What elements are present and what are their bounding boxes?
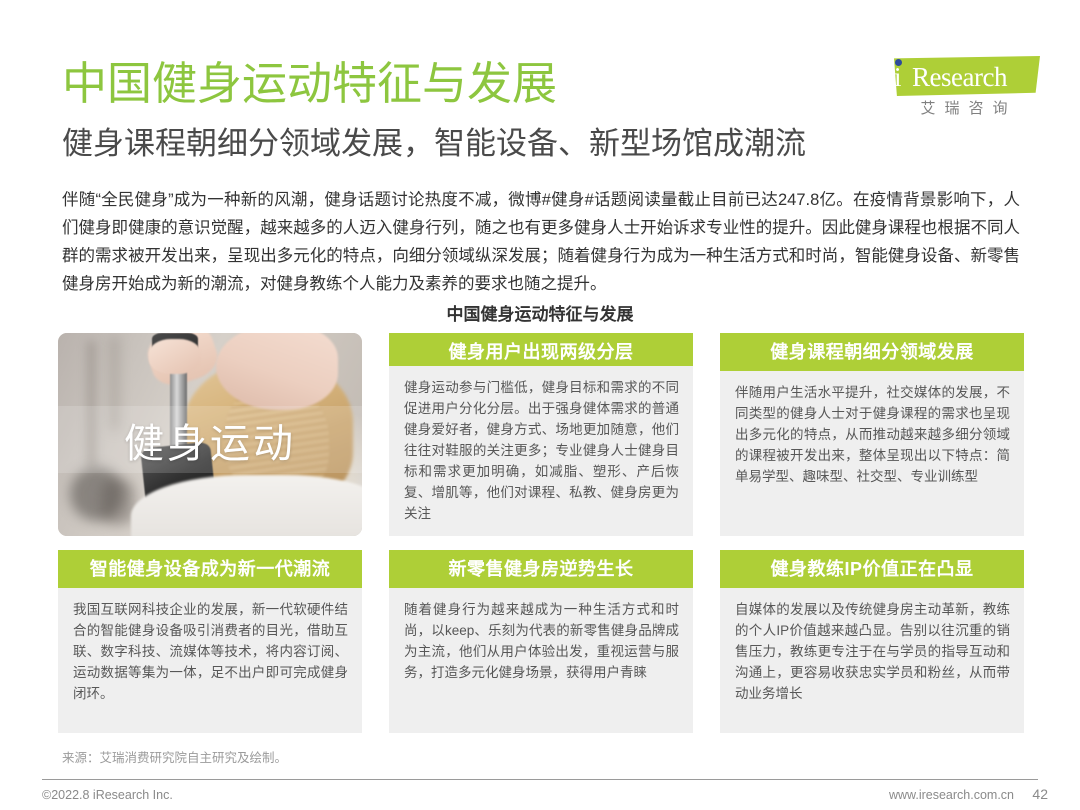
page-subtitle: 健身课程朝细分领域发展，智能设备、新型场馆成潮流 [62, 124, 806, 164]
card-title: 健身教练IP价值正在凸显 [720, 550, 1024, 588]
card-title: 智能健身设备成为新一代潮流 [58, 550, 362, 588]
logo-chinese-name: 艾瑞咨询 [897, 100, 1040, 118]
feature-card: 智能健身设备成为新一代潮流 我国互联网科技企业的发展，新一代软硬件结合的智能健身… [58, 550, 362, 733]
feature-card: 健身教练IP价值正在凸显 自媒体的发展以及传统健身房主动革新，教练的个人IP价值… [720, 550, 1024, 733]
logo-wordmark: Research [912, 61, 1040, 93]
card-body: 自媒体的发展以及传统健身房主动革新，教练的个人IP价值越来越凸显。告别以往沉重的… [720, 588, 1024, 733]
source-note: 来源：艾瑞消费研究院自主研究及绘制。 [62, 747, 287, 766]
card-body: 随着健身行为越来越成为一种生活方式和时尚，以keep、乐刻为代表的新零售健身品牌… [389, 588, 693, 733]
card-title: 新零售健身房逆势生长 [389, 550, 693, 588]
slide-page: 中国健身运动特征与发展 健身课程朝细分领域发展，智能设备、新型场馆成潮流 i R… [0, 0, 1080, 810]
intro-paragraph: 伴随“全民健身”成为一种新的风潮，健身话题讨论热度不减，微博#健身#话题阅读量截… [62, 186, 1020, 298]
hero-photo: 健身运动 [58, 333, 362, 536]
footer-copyright: ©2022.8 iResearch Inc. [42, 788, 173, 802]
page-number: 42 [1032, 786, 1048, 802]
gym-weight-plate-blur-2 [101, 479, 135, 525]
card-body: 伴随用户生活水平提升，社交媒体的发展，不同类型的健身人士对于健身课程的需求也呈现… [720, 371, 1024, 536]
photo-overlay-label: 健身运动 [58, 406, 362, 473]
card-body: 健身运动参与门槛低，健身目标和需求的不同促进用户分化分层。出于强身健体需求的普通… [389, 366, 693, 536]
person-hand [149, 339, 201, 374]
iresearch-logo: i Research 艾瑞咨询 [870, 56, 1040, 120]
page-title: 中国健身运动特征与发展 [62, 56, 557, 112]
logo-letter-i: i [894, 62, 902, 93]
feature-grid: 健身运动 健身用户出现两级分层 健身运动参与门槛低，健身目标和需求的不同促进用户… [58, 333, 1024, 733]
feature-card: 新零售健身房逆势生长 随着健身行为越来越成为一种生活方式和时尚，以keep、乐刻… [389, 550, 693, 733]
card-title: 健身课程朝细分领域发展 [720, 333, 1024, 371]
chart-title: 中国健身运动特征与发展 [0, 300, 1080, 325]
card-body: 我国互联网科技企业的发展，新一代软硬件结合的智能健身设备吸引消费者的目光，借助互… [58, 588, 362, 733]
feature-card: 健身课程朝细分领域发展 伴随用户生活水平提升，社交媒体的发展，不同类型的健身人士… [720, 333, 1024, 536]
footer-divider [42, 779, 1038, 780]
footer-website: www.iresearch.com.cn [889, 788, 1014, 802]
feature-card: 健身用户出现两级分层 健身运动参与门槛低，健身目标和需求的不同促进用户分化分层。… [389, 333, 693, 536]
card-title: 健身用户出现两级分层 [389, 333, 693, 366]
